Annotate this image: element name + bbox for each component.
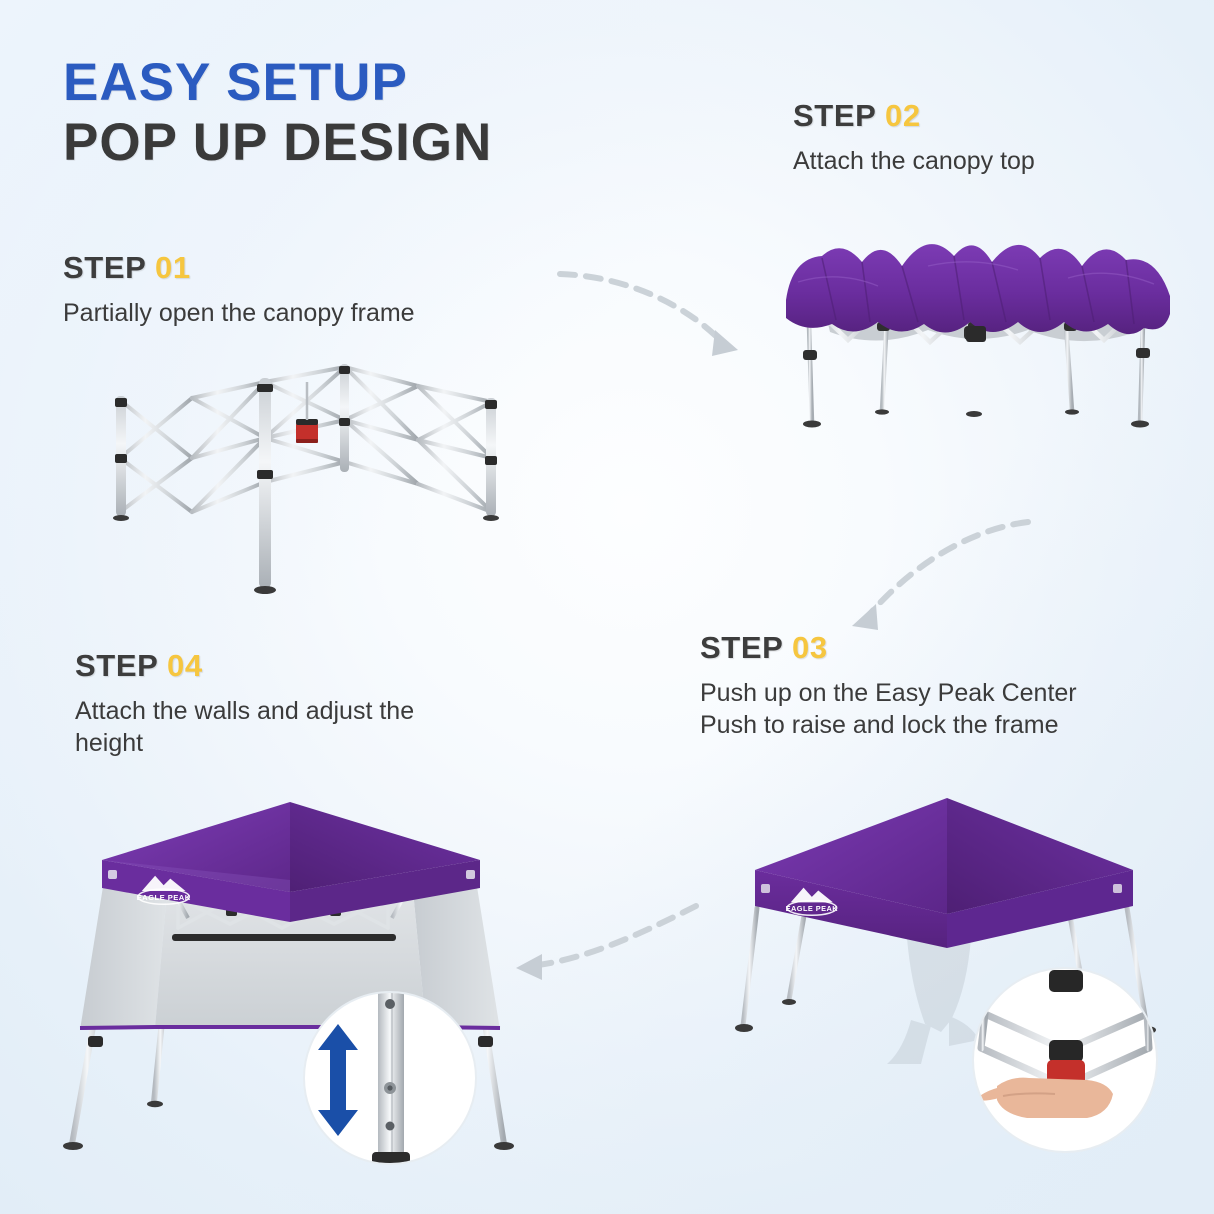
dashed-path — [530, 906, 696, 966]
purple-canopy-fabric — [786, 244, 1170, 334]
leg-pole-detail — [378, 984, 404, 1174]
step-04-label: STEP — [75, 648, 158, 683]
step-04-number: 04 — [167, 648, 203, 683]
leg-front — [259, 378, 271, 588]
dashed-path — [868, 522, 1028, 616]
logo-text: EAGLE PEAK — [786, 904, 839, 913]
step-02-figure-canopy-top-draped — [778, 222, 1182, 457]
step-02-block: STEP 02 Attach the canopy top — [793, 98, 1035, 177]
arrow-step2-to-step3 — [828, 498, 1038, 638]
step-02-heading: STEP 02 — [793, 98, 1035, 134]
step-01-figure-canopy-frame — [100, 362, 530, 592]
center-hub — [966, 326, 986, 342]
arrowhead-icon — [852, 604, 878, 630]
step-02-number: 02 — [885, 98, 921, 133]
pin-hole-bottom — [386, 1122, 395, 1131]
page-title: EASY SETUP POP UP DESIGN — [63, 56, 492, 170]
step-04-figure-canopy-with-walls: EAGLE PEAK — [60, 788, 530, 1168]
step-03-description: Push up on the Easy Peak Center Push to … — [700, 677, 1077, 741]
frame-feet — [803, 409, 1149, 427]
step-03-heading: STEP 03 — [700, 630, 1077, 666]
step-01-label: STEP — [63, 250, 146, 285]
pin-hole-top — [385, 999, 395, 1009]
dashed-path — [560, 274, 720, 340]
step-03-description-line-1: Push up on the Easy Peak Center — [700, 677, 1077, 709]
step-02-description: Attach the canopy top — [793, 145, 1035, 177]
step-03-block: STEP 03 Push up on the Easy Peak Center … — [700, 630, 1077, 741]
truss-rail — [172, 934, 396, 941]
step-03-description-line-2: Push to raise and lock the frame — [700, 709, 1077, 741]
step-04-description: Attach the walls and adjust the height — [75, 695, 414, 759]
step-04-block: STEP 04 Attach the walls and adjust the … — [75, 648, 414, 759]
step-04-heading: STEP 04 — [75, 648, 414, 684]
infographic-canvas: EASY SETUP POP UP DESIGN STEP 01 Partial… — [0, 0, 1214, 1214]
step-01-number: 01 — [155, 250, 191, 285]
step-03-label: STEP — [700, 630, 783, 665]
step-03-figure-canopy-raised: EAGLE PEAK — [735, 788, 1175, 1158]
step-01-block: STEP 01 Partially open the canopy frame — [63, 250, 415, 329]
step-01-description: Partially open the canopy frame — [63, 297, 415, 329]
title-line-1: EASY SETUP — [63, 56, 492, 110]
hand-icon — [997, 1078, 1113, 1118]
arrow-step1-to-step2 — [552, 252, 767, 377]
arrow-step3-to-step4 — [498, 896, 728, 1016]
frame-feet — [113, 515, 499, 594]
arrowhead-icon — [712, 330, 738, 356]
logo-text: EAGLE PEAK — [137, 893, 191, 902]
lower-hub-collar — [1049, 1040, 1083, 1062]
title-line-2: POP UP DESIGN — [63, 116, 492, 170]
step-04-description-line-1: Attach the walls and adjust the — [75, 695, 414, 727]
step-01-heading: STEP 01 — [63, 250, 415, 286]
step-04-description-line-2: height — [75, 727, 414, 759]
easy-peak-center-hub — [296, 382, 318, 443]
step-02-label: STEP — [793, 98, 876, 133]
step-03-number: 03 — [792, 630, 828, 665]
upper-hub — [1049, 970, 1083, 992]
center-push-callout — [973, 968, 1157, 1152]
